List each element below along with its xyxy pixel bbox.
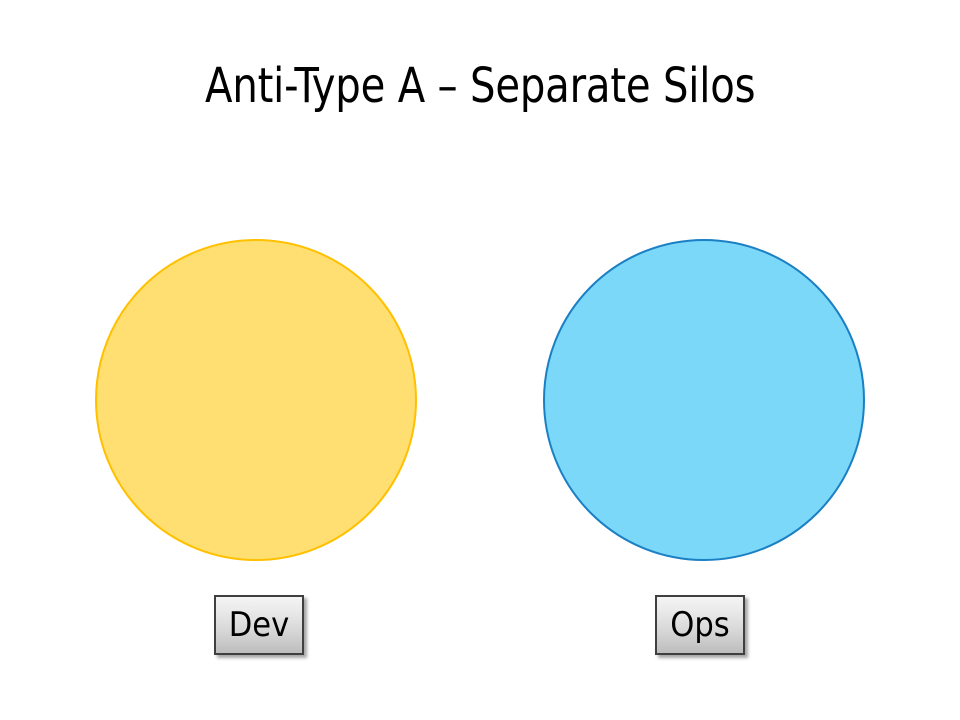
- ops-silo-label-box[interactable]: Ops: [655, 595, 745, 655]
- dev-silo-label-box[interactable]: Dev: [214, 595, 304, 655]
- ops-silo-circle[interactable]: [543, 239, 865, 561]
- dev-silo-circle[interactable]: [95, 239, 417, 561]
- page-title: Anti-Type A – Separate Silos: [34, 58, 927, 114]
- dev-silo-label-text: Dev: [229, 608, 289, 642]
- ops-silo-label-text: Ops: [670, 608, 729, 642]
- slide-canvas: Anti-Type A – Separate Silos Dev Ops: [0, 0, 960, 720]
